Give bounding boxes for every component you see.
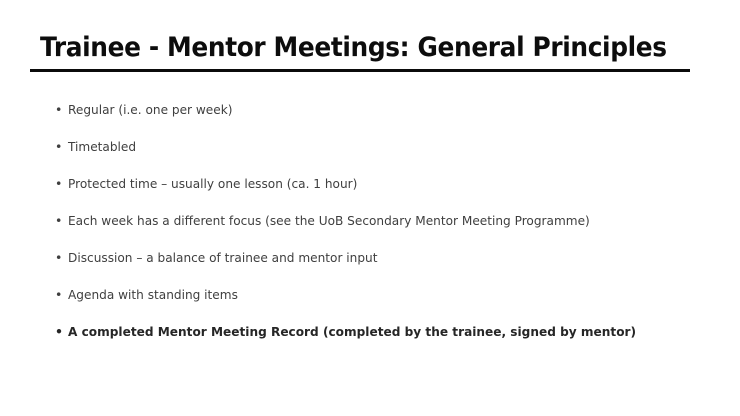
list-item-label: Regular (i.e. one per week) (68, 101, 232, 118)
bullet-marker-icon: • (55, 101, 62, 118)
page-title: Trainee - Mentor Meetings: General Princ… (40, 31, 647, 65)
bullet-marker-icon: • (55, 138, 62, 155)
bullet-marker-icon: • (55, 249, 62, 266)
list-item: • Protected time – usually one lesson (c… (52, 175, 722, 212)
bullet-marker-icon: • (55, 212, 62, 229)
bullet-list: • Regular (i.e. one per week) • Timetabl… (52, 101, 722, 360)
list-item: • Discussion – a balance of trainee and … (52, 249, 722, 286)
list-item-label: A completed Mentor Meeting Record (compl… (68, 323, 636, 340)
list-item-label: Each week has a different focus (see the… (68, 212, 590, 229)
bullet-marker-icon: • (55, 175, 62, 192)
slide-canvas: Trainee - Mentor Meetings: General Princ… (0, 0, 740, 416)
list-item-label: Agenda with standing items (68, 286, 238, 303)
list-item-label: Timetabled (68, 138, 136, 155)
list-item-label: Discussion – a balance of trainee and me… (68, 249, 377, 266)
bullet-marker-icon: • (55, 323, 63, 340)
title-divider (30, 69, 690, 72)
list-item: • Timetabled (52, 138, 722, 175)
list-item-label: Protected time – usually one lesson (ca.… (68, 175, 357, 192)
list-item: • A completed Mentor Meeting Record (com… (52, 323, 722, 360)
bullet-marker-icon: • (55, 286, 62, 303)
list-item: • Regular (i.e. one per week) (52, 101, 722, 138)
list-item: • Each week has a different focus (see t… (52, 212, 722, 249)
list-item: • Agenda with standing items (52, 286, 722, 323)
